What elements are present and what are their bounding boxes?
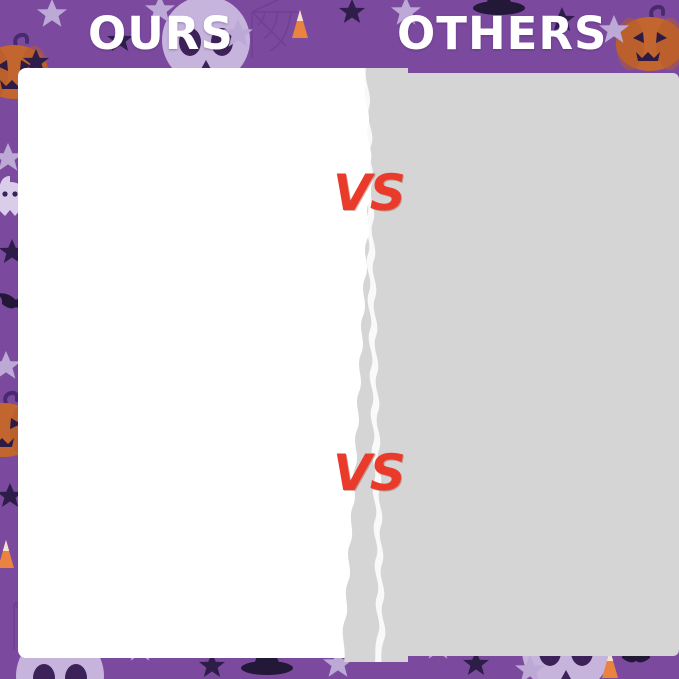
header: OURS OTHERS — [0, 0, 679, 70]
comparison-panels — [18, 68, 661, 662]
header-title-ours: OURS — [88, 8, 234, 60]
vs-badge-bottom: VS — [333, 448, 404, 498]
header-title-others: OTHERS — [397, 8, 607, 60]
torn-paper-divider — [318, 68, 408, 662]
vs-badge-top: VS — [333, 168, 404, 218]
